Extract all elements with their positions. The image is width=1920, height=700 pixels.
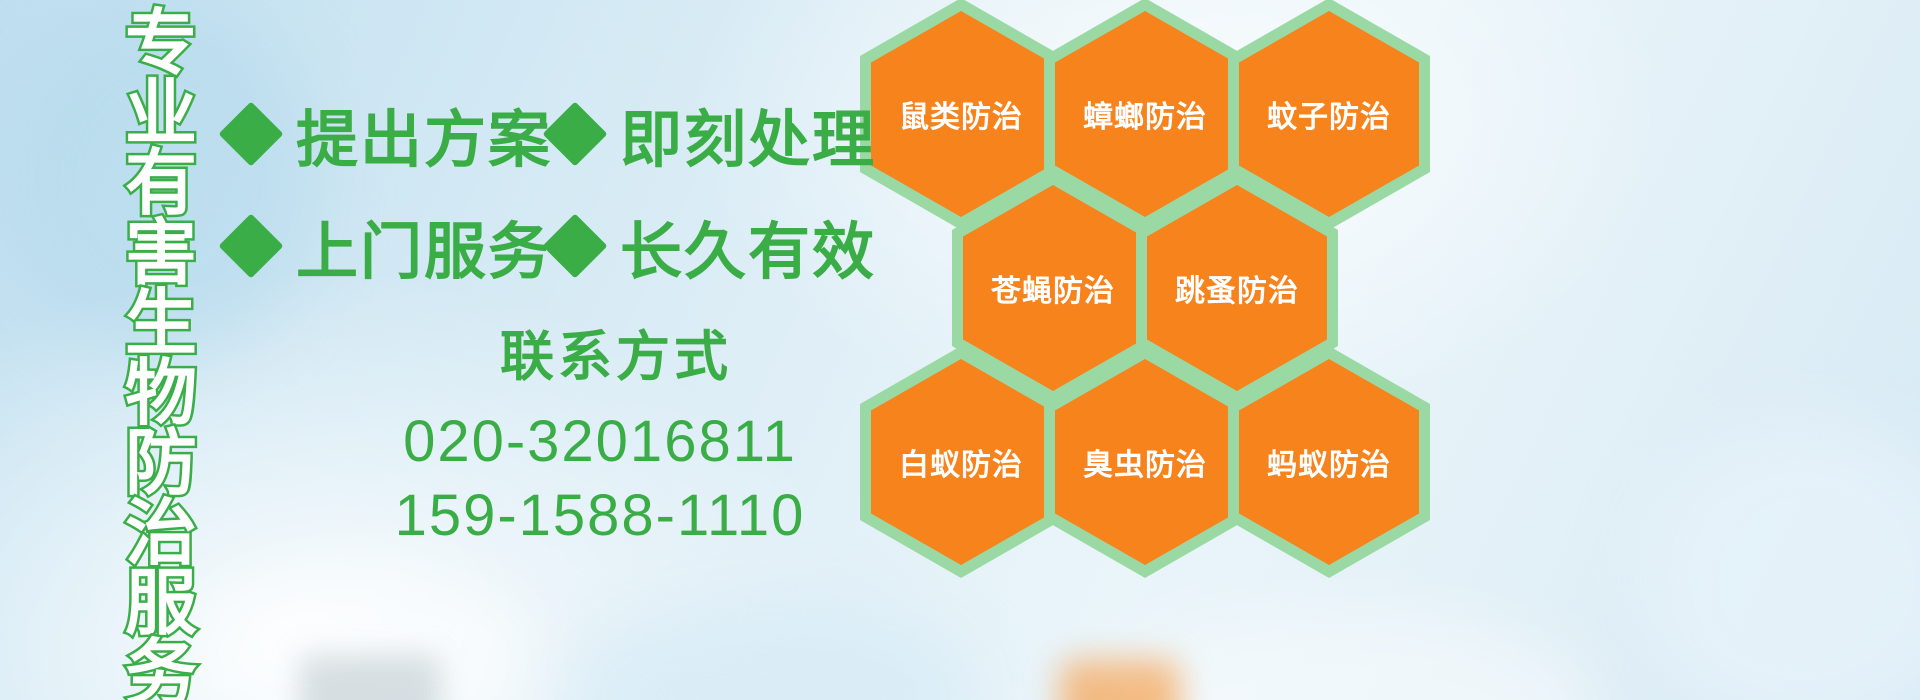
feature-label: 长久有效 xyxy=(620,201,876,291)
pest-control-banner: 专 业 有 害 生 物 防 治 服 务 提出方案 即刻处理 上门服务 xyxy=(0,0,1920,700)
hexagon-label: 跳蚤防治 xyxy=(1175,266,1299,310)
feature-row: 上门服务 长久有效 xyxy=(228,190,868,302)
contact-block: 联系方式 020-32016811 159-1588-1110 xyxy=(300,312,860,553)
contact-title: 联系方式 xyxy=(300,312,860,391)
hexagon-label: 臭虫防治 xyxy=(1083,440,1207,484)
feature-item-long-lasting: 长久有效 xyxy=(552,201,876,291)
service-hexagon-cluster: 鼠类防治 蟑螂防治 蚊子防治 苍蝇防治 跳蚤防治 白蚁防治 xyxy=(848,0,1468,574)
feature-label: 即刻处理 xyxy=(620,89,876,179)
vertical-title-char: 生 xyxy=(125,288,197,358)
hexagon-label: 白蚁防治 xyxy=(899,440,1023,484)
hexagon-fill: 鼠类防治 xyxy=(871,11,1051,217)
hexagon-fill: 蚂蚁防治 xyxy=(1239,359,1419,565)
feature-row: 提出方案 即刻处理 xyxy=(228,78,868,190)
phone-number-landline[interactable]: 020-32016811 xyxy=(300,405,860,479)
hexagon-fill: 蚊子防治 xyxy=(1239,11,1419,217)
feature-item-onsite-service: 上门服务 xyxy=(228,201,552,291)
vertical-title-char: 务 xyxy=(125,638,197,700)
hexagon-fill: 跳蚤防治 xyxy=(1147,185,1327,391)
feature-item-immediate-handling: 即刻处理 xyxy=(552,89,876,179)
hexagon-fill: 臭虫防治 xyxy=(1055,359,1235,565)
diamond-bullet-icon xyxy=(542,101,607,166)
vertical-title-char: 防 xyxy=(125,428,197,498)
background-blob xyxy=(1640,420,1920,700)
hexagon-label: 苍蝇防治 xyxy=(991,266,1115,310)
hexagon-fill: 白蚁防治 xyxy=(871,359,1051,565)
feature-label: 上门服务 xyxy=(296,201,552,291)
feature-item-propose-plan: 提出方案 xyxy=(228,89,552,179)
feature-list: 提出方案 即刻处理 上门服务 长久有效 xyxy=(228,78,868,302)
vertical-title-char: 专 xyxy=(125,8,197,78)
vertical-title-char: 有 xyxy=(125,148,197,218)
hexagon-fill: 苍蝇防治 xyxy=(963,185,1143,391)
phone-number-mobile[interactable]: 159-1588-1110 xyxy=(300,479,860,553)
diamond-bullet-icon xyxy=(218,213,283,278)
hexagon-fill: 蟑螂防治 xyxy=(1055,11,1235,217)
feature-label: 提出方案 xyxy=(296,89,552,179)
hexagon-label: 蚊子防治 xyxy=(1267,92,1391,136)
hexagon-label: 蟑螂防治 xyxy=(1083,92,1207,136)
background-blob xyxy=(560,600,980,700)
vertical-title-char: 治 xyxy=(125,498,197,568)
vertical-title-char: 害 xyxy=(125,218,197,288)
hexagon-label: 鼠类防治 xyxy=(899,92,1023,136)
background-blob-orange xyxy=(1060,660,1180,700)
diamond-bullet-icon xyxy=(542,213,607,278)
vertical-title-char: 服 xyxy=(125,568,197,638)
vertical-title-char: 物 xyxy=(125,358,197,428)
hexagon-label: 蚂蚁防治 xyxy=(1267,440,1391,484)
background-blob xyxy=(300,655,440,700)
diamond-bullet-icon xyxy=(218,101,283,166)
vertical-title-char: 业 xyxy=(125,78,197,148)
vertical-title: 专 业 有 害 生 物 防 治 服 务 xyxy=(112,8,210,700)
